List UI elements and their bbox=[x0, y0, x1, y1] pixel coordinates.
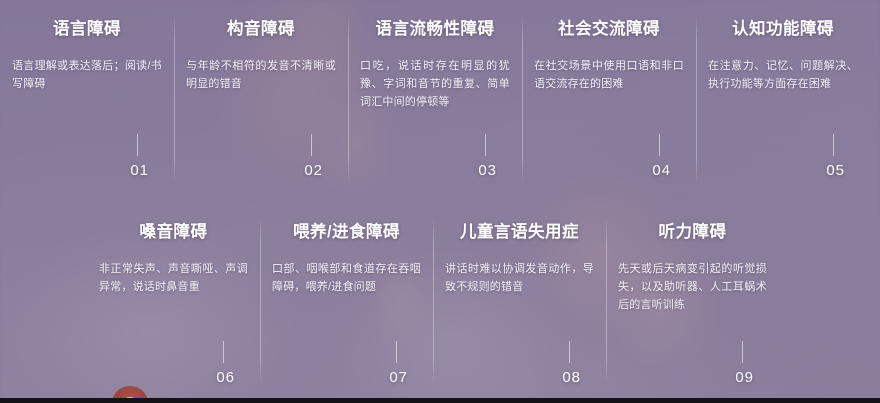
card-footer: 09 bbox=[618, 341, 767, 400]
card-description: 与年龄不相符的发音不清晰或明显的错音 bbox=[186, 57, 336, 93]
card-title: 语言障碍 bbox=[12, 18, 162, 40]
card-number: 07 bbox=[389, 369, 408, 387]
card-description: 讲话时难以协调发音动作，导致不规则的错音 bbox=[445, 260, 594, 296]
tick-mark-icon bbox=[223, 341, 224, 363]
tick-mark-icon bbox=[659, 134, 660, 156]
card-title: 语言流畅性障碍 bbox=[360, 18, 510, 40]
card-06[interactable]: 嗓音障碍 非正常失声、声音嘶哑、声调异常，说话时鼻音重 06 bbox=[87, 203, 260, 400]
card-title: 喂养/进食障碍 bbox=[272, 221, 421, 243]
card-description: 在注意力、记忆、问题解决、执行功能等方面存在困难 bbox=[708, 57, 858, 93]
card-09[interactable]: 听力障碍 先天或后天病变引起的听觉损失，以及助听器、人工耳蜗术后的言听训练 09 bbox=[606, 203, 779, 400]
card-05[interactable]: 认知功能障碍 在注意力、记忆、问题解决、执行功能等方面存在困难 05 bbox=[696, 0, 870, 200]
card-description: 语言理解或表达落后；阅读/书写障碍 bbox=[12, 57, 162, 93]
card-footer: 08 bbox=[445, 341, 594, 400]
card-08[interactable]: 儿童言语失用症 讲话时难以协调发音动作，导致不规则的错音 08 bbox=[433, 203, 606, 400]
card-title: 认知功能障碍 bbox=[708, 18, 858, 40]
card-title: 嗓音障碍 bbox=[99, 221, 248, 243]
card-description: 口吃，说话时存在明显的犹豫、字词和音节的重复、简单词汇中间的停顿等 bbox=[360, 57, 510, 111]
card-03[interactable]: 语言流畅性障碍 口吃，说话时存在明显的犹豫、字词和音节的重复、简单词汇中间的停顿… bbox=[348, 0, 522, 200]
card-number: 06 bbox=[216, 369, 235, 387]
card-footer: 03 bbox=[360, 134, 510, 200]
tick-mark-icon bbox=[742, 341, 743, 363]
card-description: 口部、咽喉部和食道存在吞咽障碍，喂养/进食问题 bbox=[272, 260, 421, 296]
card-number: 05 bbox=[826, 162, 845, 180]
top-row: 语言障碍 语言理解或表达落后；阅读/书写障碍 01 构音障碍 与年龄不相符的发音… bbox=[0, 0, 880, 200]
card-description: 非正常失声、声音嘶哑、声调异常，说话时鼻音重 bbox=[99, 260, 248, 296]
tick-mark-icon bbox=[137, 134, 138, 156]
card-number: 01 bbox=[130, 162, 149, 180]
card-footer: 07 bbox=[272, 341, 421, 400]
card-01[interactable]: 语言障碍 语言理解或表达落后；阅读/书写障碍 01 bbox=[0, 0, 174, 200]
card-number: 04 bbox=[652, 162, 671, 180]
card-footer: 02 bbox=[186, 134, 336, 200]
infographic-stage: 语言障碍 语言理解或表达落后；阅读/书写障碍 01 构音障碍 与年龄不相符的发音… bbox=[0, 0, 880, 403]
card-title: 构音障碍 bbox=[186, 18, 336, 40]
card-title: 听力障碍 bbox=[618, 221, 767, 243]
card-description: 在社交场景中使用口语和非口语交流存在的困难 bbox=[534, 57, 684, 93]
bottom-strip bbox=[0, 398, 880, 403]
card-02[interactable]: 构音障碍 与年龄不相符的发音不清晰或明显的错音 02 bbox=[174, 0, 348, 200]
card-footer: 06 bbox=[99, 341, 248, 400]
card-number: 09 bbox=[735, 369, 754, 387]
card-footer: 04 bbox=[534, 134, 684, 200]
card-number: 02 bbox=[304, 162, 323, 180]
tick-mark-icon bbox=[833, 134, 834, 156]
card-footer: 05 bbox=[708, 134, 858, 200]
tick-mark-icon bbox=[396, 341, 397, 363]
card-number: 03 bbox=[478, 162, 497, 180]
tick-mark-icon bbox=[311, 134, 312, 156]
tick-mark-icon bbox=[569, 341, 570, 363]
card-title: 社会交流障碍 bbox=[534, 18, 684, 40]
card-footer: 01 bbox=[12, 134, 162, 200]
bottom-row: 嗓音障碍 非正常失声、声音嘶哑、声调异常，说话时鼻音重 06 喂养/进食障碍 口… bbox=[0, 203, 880, 400]
tick-mark-icon bbox=[485, 134, 486, 156]
card-07[interactable]: 喂养/进食障碍 口部、咽喉部和食道存在吞咽障碍，喂养/进食问题 07 bbox=[260, 203, 433, 400]
card-description: 先天或后天病变引起的听觉损失，以及助听器、人工耳蜗术后的言听训练 bbox=[618, 260, 767, 314]
card-04[interactable]: 社会交流障碍 在社交场景中使用口语和非口语交流存在的困难 04 bbox=[522, 0, 696, 200]
card-number: 08 bbox=[562, 369, 581, 387]
card-title: 儿童言语失用症 bbox=[445, 221, 594, 243]
